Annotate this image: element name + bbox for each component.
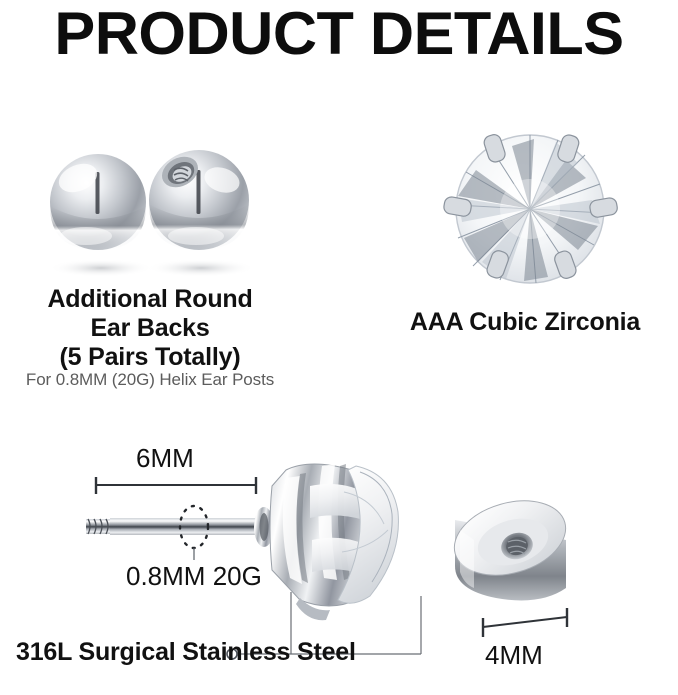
gem-prongs <box>443 133 619 280</box>
stud-earring-side-view <box>86 464 398 620</box>
ear-backs-caption: Additional Round Ear Backs (5 Pairs Tota… <box>0 285 300 372</box>
page-title: PRODUCT DETAILS <box>0 2 678 66</box>
post-gauge-label-line1: 0.8MM <box>126 561 205 591</box>
post-thread-tip <box>86 519 112 534</box>
ear-backs-caption-line3: (5 Pairs Totally) <box>0 343 300 372</box>
back-width-label: 4MM <box>485 640 543 671</box>
post-collar <box>254 507 274 547</box>
ear-backs-caption-line2: Ear Backs <box>0 314 300 343</box>
ear-backs-caption-line1: Additional Round <box>0 285 300 314</box>
post-gauge-label-line2: 20G <box>213 561 262 591</box>
cubic-zirconia-photo <box>443 133 619 283</box>
ear-back-sphere-left <box>50 154 146 250</box>
ear-back-sphere-right <box>149 150 249 250</box>
material-label-line2: Stainless Steel <box>182 638 355 666</box>
material-label: 316L Surgical Stainless Steel <box>16 638 356 666</box>
gauge-callout <box>180 506 208 560</box>
ear-backs-subtitle: For 0.8MM (20G) Helix Ear Posts <box>0 370 300 390</box>
thread-hole <box>157 151 204 194</box>
material-label-line1: 316L Surgical <box>16 638 176 666</box>
post-gauge-label: 0.8MM 20G <box>126 562 262 591</box>
round-ear-backs-photo <box>49 150 255 277</box>
post-length-label: 6MM <box>136 443 194 474</box>
cubic-zirconia-caption-text: AAA Cubic Zirconia <box>375 308 675 337</box>
dimension-4mm <box>483 608 567 637</box>
cubic-zirconia-caption: AAA Cubic Zirconia <box>375 308 675 337</box>
basket-setting <box>270 464 372 606</box>
dimension-6mm <box>96 477 256 494</box>
back-thread-hole <box>498 529 536 563</box>
flat-screw-back-photo <box>446 489 575 601</box>
stone-side-view <box>338 466 398 603</box>
product-details-infographic: PRODUCT DETAILS <box>0 0 678 695</box>
